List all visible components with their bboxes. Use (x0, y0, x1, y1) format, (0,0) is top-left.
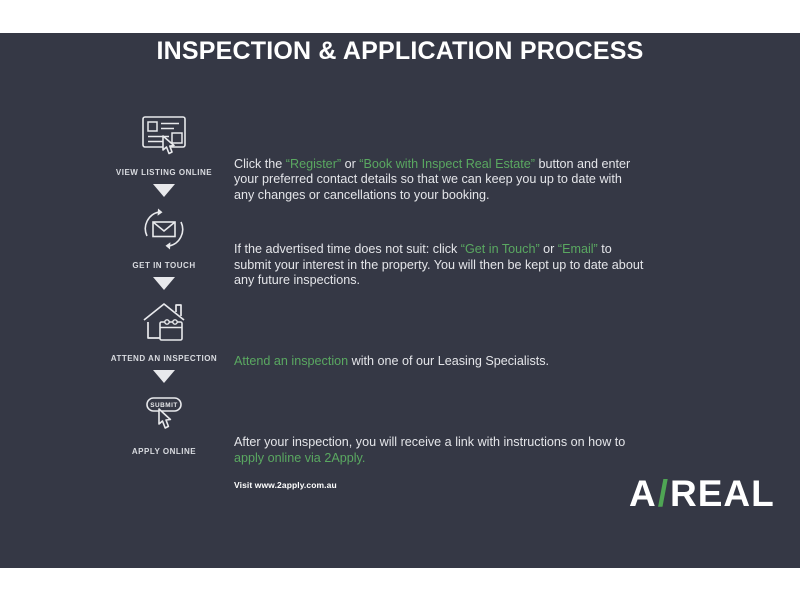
step-2-label: GET IN TOUCH (88, 261, 240, 270)
steps-column: VIEW LISTING ONLINE GET IN TOUCH (88, 110, 240, 456)
accent-text: Attend an inspection (234, 354, 348, 368)
page-title: INSPECTION & APPLICATION PROCESS (0, 37, 800, 66)
step-4: SUBMIT APPLY ONLINE (88, 389, 240, 456)
accent-text: “Book with Inspect Real Estate” (359, 157, 535, 171)
accent-text: “Get in Touch” (461, 242, 540, 256)
visit-url-note: Visit www.2apply.com.au (234, 480, 644, 490)
step-4-label: APPLY ONLINE (88, 447, 240, 456)
body-text: Click the (234, 157, 286, 171)
step-2: GET IN TOUCH (88, 203, 240, 270)
body-text: or (341, 157, 359, 171)
triangle-down-icon (88, 363, 240, 389)
step-3-paragraph: Attend an inspection with one of our Lea… (234, 354, 644, 369)
step-2-paragraph: If the advertised time does not suit: cl… (234, 242, 644, 288)
triangle-down-icon (88, 177, 240, 203)
brand-logo: A / REAL (629, 473, 775, 515)
step-3-label: ATTEND AN INSPECTION (88, 354, 240, 363)
listing-window-cursor-icon (88, 110, 240, 162)
logo-word-real: REAL (670, 473, 775, 515)
triangle-down-icon (88, 270, 240, 296)
logo-slash-icon: / (658, 473, 669, 515)
step-1-paragraph: Click the “Register” or “Book with Inspe… (234, 157, 644, 203)
envelope-refresh-icon (88, 203, 240, 255)
slide-root: INSPECTION & APPLICATION PROCESS VIEW LI… (0, 0, 800, 600)
step-3: ATTEND AN INSPECTION (88, 296, 240, 363)
step-1-label: VIEW LISTING ONLINE (88, 168, 240, 177)
body-text: After your inspection, you will receive … (234, 435, 625, 449)
step-1: VIEW LISTING ONLINE (88, 110, 240, 177)
step-4-paragraph: After your inspection, you will receive … (234, 435, 644, 466)
body-text: or (540, 242, 558, 256)
submit-icon-text: SUBMIT (150, 402, 178, 409)
house-calendar-icon (88, 296, 240, 348)
body-text: If the advertised time does not suit: cl… (234, 242, 461, 256)
submit-button-cursor-icon: SUBMIT (88, 389, 240, 441)
accent-text: “Email” (558, 242, 598, 256)
text-column: Click the “Register” or “Book with Inspe… (234, 110, 644, 490)
accent-text: apply online via 2Apply. (234, 451, 365, 465)
body-text: with one of our Leasing Specialists. (348, 354, 549, 368)
accent-text: “Register” (286, 157, 341, 171)
logo-letter-a: A (629, 473, 657, 515)
